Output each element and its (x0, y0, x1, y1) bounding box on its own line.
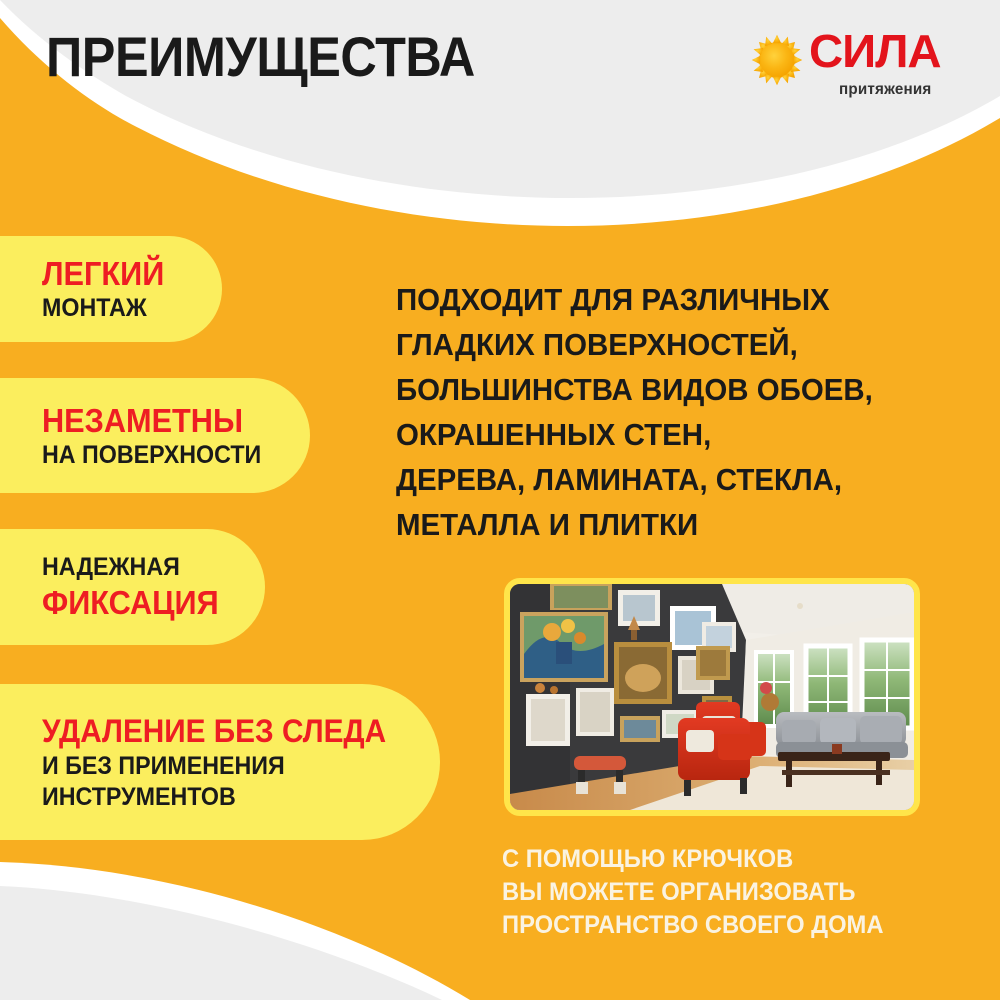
benefit-pill-reliable-fixation: НАДЕЖНАЯ ФИКСАЦИЯ (0, 529, 265, 645)
benefit-pill-no-trace-removal: УДАЛЕНИЕ БЕЗ СЛЕДА И БЕЗ ПРИМЕНЕНИЯ ИНСТ… (0, 684, 440, 840)
benefit-line-secondary: НАДЕЖНАЯ (42, 551, 249, 583)
page-title: ПРЕИМУЩЕСТВА (46, 29, 475, 85)
interior-photo-frame (504, 578, 920, 816)
photo-caption: С ПОМОЩЬЮ КРЮЧКОВ ВЫ МОЖЕТЕ ОРГАНИЗОВАТЬ… (502, 843, 972, 942)
surfaces-line: ДЕРЕВА, ЛАМИНАТА, СТЕКЛА, (396, 457, 928, 502)
surfaces-line: ПОДХОДИТ ДЛЯ РАЗЛИЧНЫХ (396, 277, 928, 322)
suitable-surfaces-text: ПОДХОДИТ ДЛЯ РАЗЛИЧНЫХ ГЛАДКИХ ПОВЕРХНОС… (396, 277, 956, 547)
caption-line: ВЫ МОЖЕТЕ ОРГАНИЗОВАТЬ (502, 876, 949, 909)
promo-poster: ПРЕИМУЩЕСТВА (0, 0, 1000, 1000)
benefit-line-primary: УДАЛЕНИЕ БЕЗ СЛЕДА (42, 711, 412, 751)
benefit-pill-invisible: НЕЗАМЕТНЫ НА ПОВЕРХНОСТИ (0, 378, 310, 493)
benefit-line-tertiary: ИНСТРУМЕНТОВ (42, 782, 412, 813)
benefit-line-secondary: И БЕЗ ПРИМЕНЕНИЯ (42, 751, 412, 782)
poster-header: ПРЕИМУЩЕСТВА (0, 0, 1000, 115)
benefit-pill-easy-install: ЛЕГКИЙ МОНТАЖ (0, 236, 222, 342)
sun-icon (747, 30, 807, 90)
benefit-line-primary: ЛЕГКИЙ (42, 255, 209, 293)
surfaces-line: ОКРАШЕННЫХ СТЕН, (396, 412, 928, 457)
surfaces-line: МЕТАЛЛА И ПЛИТКИ (396, 502, 928, 547)
caption-line: ПРОСТРАНСТВО СВОЕГО ДОМА (502, 909, 949, 942)
logo-wordmark: СИЛА (809, 28, 941, 74)
caption-line: С ПОМОЩЬЮ КРЮЧКОВ (502, 843, 949, 876)
benefit-line-primary: НЕЗАМЕТНЫ (42, 401, 291, 440)
benefit-line-secondary: НА ПОВЕРХНОСТИ (42, 440, 291, 471)
logo-tagline: притяжения (839, 82, 931, 98)
benefit-line-primary: ФИКСАЦИЯ (42, 583, 249, 623)
interior-photo (510, 584, 914, 810)
brand-logo: СИЛА притяжения (747, 26, 962, 106)
benefit-line-secondary: МОНТАЖ (42, 293, 209, 323)
surfaces-line: ГЛАДКИХ ПОВЕРХНОСТЕЙ, (396, 322, 928, 367)
surfaces-line: БОЛЬШИНСТВА ВИДОВ ОБОЕВ, (396, 367, 928, 412)
